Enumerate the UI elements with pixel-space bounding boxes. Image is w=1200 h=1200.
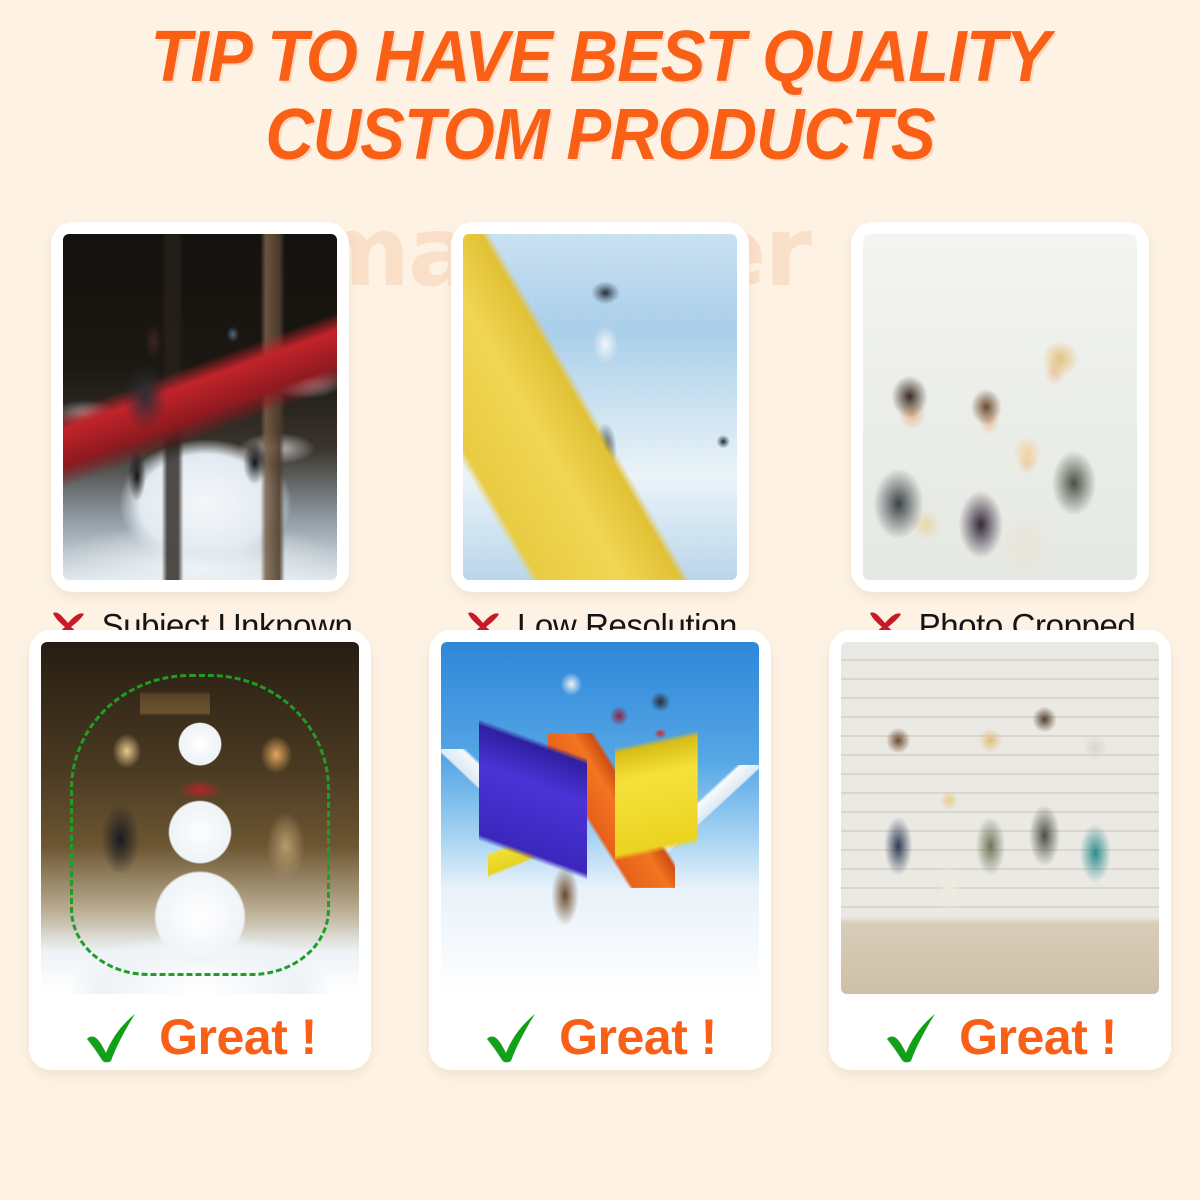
photo-card[interactable]: [51, 222, 349, 592]
photo-card[interactable]: [451, 222, 749, 592]
photo-great-snowboarders: [441, 642, 759, 994]
photo-card[interactable]: [851, 222, 1149, 592]
photo-subject-unknown: [63, 234, 337, 580]
caption-label: Great !: [159, 1008, 317, 1066]
tip-card-great-family: Great !: [800, 630, 1200, 1110]
page-title: TIP TO HAVE BEST QUALITY CUSTOM PRODUCTS: [42, 18, 1158, 174]
photo-great-family: [841, 642, 1159, 994]
caption-great-snowboarders: Great !: [441, 994, 759, 1080]
check-icon: [83, 1009, 143, 1065]
tips-grid: Subject Unknown Low Resolution Photo Cro…: [0, 222, 1200, 1182]
page-title-line2: CUSTOM PRODUCTS: [42, 96, 1158, 174]
tip-card-great-snowman: Great !: [0, 630, 400, 1110]
page-title-line1: TIP TO HAVE BEST QUALITY: [150, 17, 1049, 97]
caption-great-snowman: Great !: [41, 994, 359, 1080]
photo-card[interactable]: Great !: [429, 630, 771, 1070]
caption-label: Great !: [959, 1008, 1117, 1066]
photo-great-snowman: [41, 642, 359, 994]
check-icon: [883, 1009, 943, 1065]
check-icon: [483, 1009, 543, 1065]
tip-card-photo-cropped: Photo Cropped: [800, 222, 1200, 630]
tip-card-subject-unknown: Subject Unknown: [0, 222, 400, 630]
caption-great-family: Great !: [841, 994, 1159, 1080]
photo-card[interactable]: Great !: [829, 630, 1171, 1070]
tip-card-great-snowboarders: Great !: [400, 630, 800, 1110]
tip-card-low-resolution: Low Resolution: [400, 222, 800, 630]
photo-photo-cropped: [863, 234, 1137, 580]
subject-cutout-outline: [70, 674, 331, 977]
caption-label: Great !: [559, 1008, 717, 1066]
photo-card[interactable]: Great !: [29, 630, 371, 1070]
photo-low-resolution: [463, 234, 737, 580]
